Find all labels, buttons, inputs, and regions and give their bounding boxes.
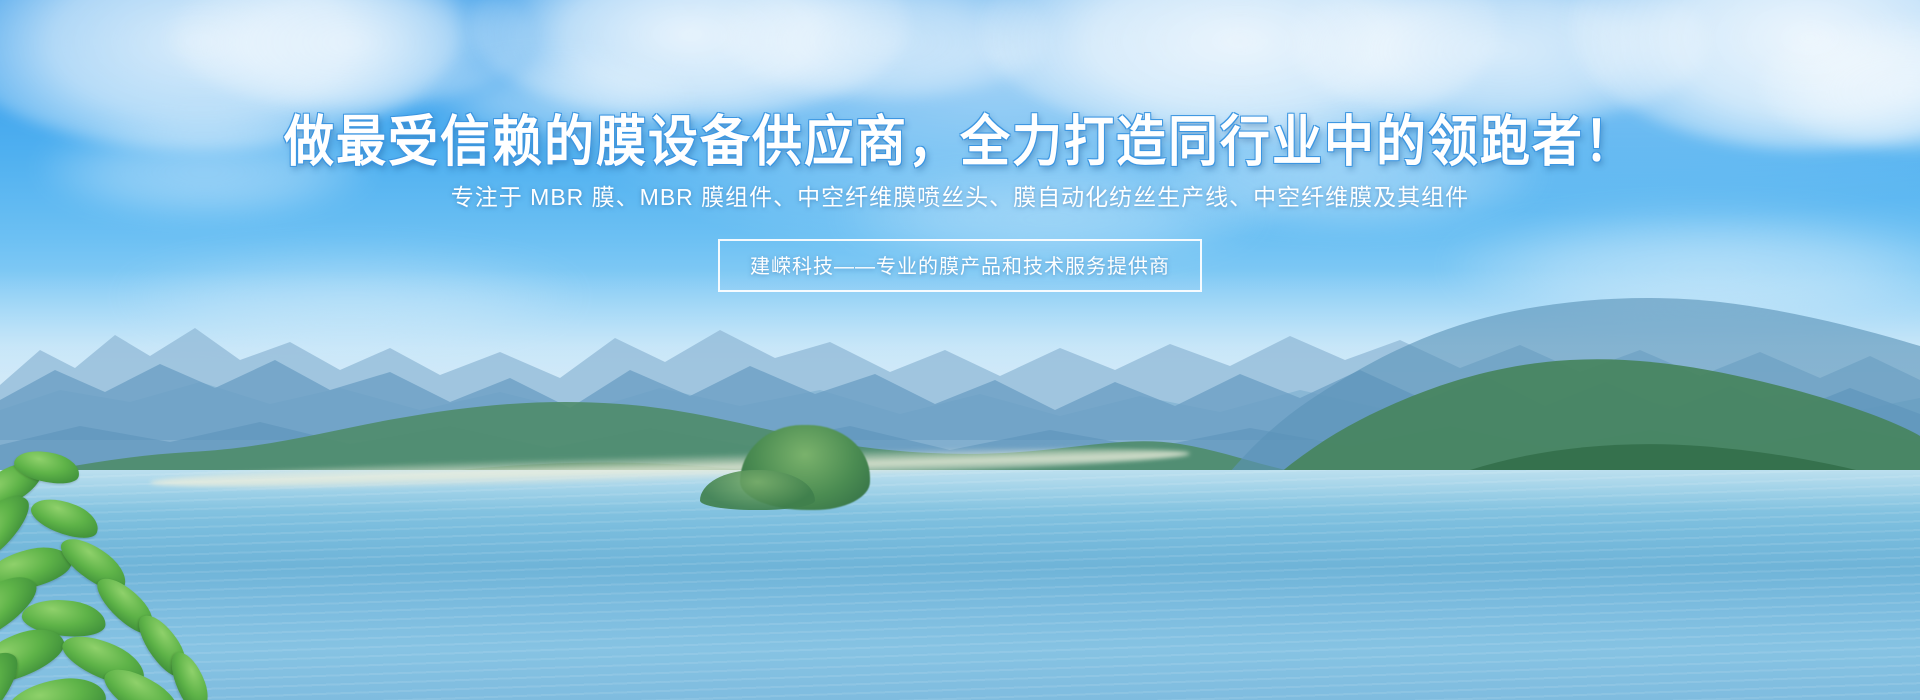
hero-headline: 做最受信赖的膜设备供应商，全力打造同行业中的领跑者！	[0, 0, 1920, 175]
hero-tagline-wrap: 建嵘科技——专业的膜产品和技术服务提供商	[0, 213, 1920, 292]
hero-banner: 做最受信赖的膜设备供应商，全力打造同行业中的领跑者！ 专注于 MBR 膜、MBR…	[0, 0, 1920, 700]
hero-tagline-box: 建嵘科技——专业的膜产品和技术服务提供商	[718, 239, 1202, 292]
hero-content: 做最受信赖的膜设备供应商，全力打造同行业中的领跑者！ 专注于 MBR 膜、MBR…	[0, 0, 1920, 292]
water-shimmer	[0, 470, 1920, 700]
lake-water	[0, 470, 1920, 700]
